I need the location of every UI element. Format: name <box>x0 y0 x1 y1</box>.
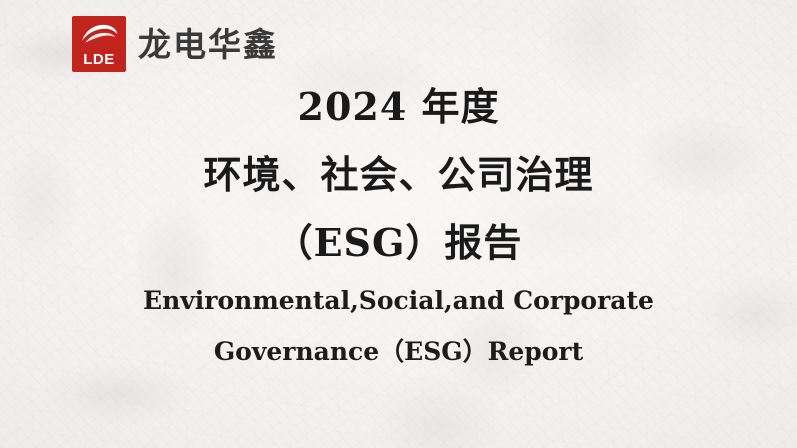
company-logo: LDE 龙电华鑫 <box>72 16 278 72</box>
title-cn-line3: （ESG）报告 <box>0 224 797 262</box>
esg-report-cover: LDE 龙电华鑫 2024 年度 环境、社会、公司治理 （ESG）报告 Envi… <box>0 0 797 448</box>
title-en-line1: Environmental,Social,and Corporate <box>0 288 797 313</box>
title-cn-line2: 环境、社会、公司治理 <box>0 156 797 194</box>
logo-mark-text: LDE <box>83 52 115 67</box>
logo-brand-name: 龙电华鑫 <box>138 28 278 61</box>
cover-title-block: 2024 年度 环境、社会、公司治理 （ESG）报告 Environmental… <box>0 88 797 364</box>
title-cn-line1: 2024 年度 <box>0 88 797 126</box>
logo-mark: LDE <box>72 16 126 72</box>
flame-swoosh-icon <box>80 23 118 45</box>
title-en-line2: Governance（ESG）Report <box>0 339 797 364</box>
